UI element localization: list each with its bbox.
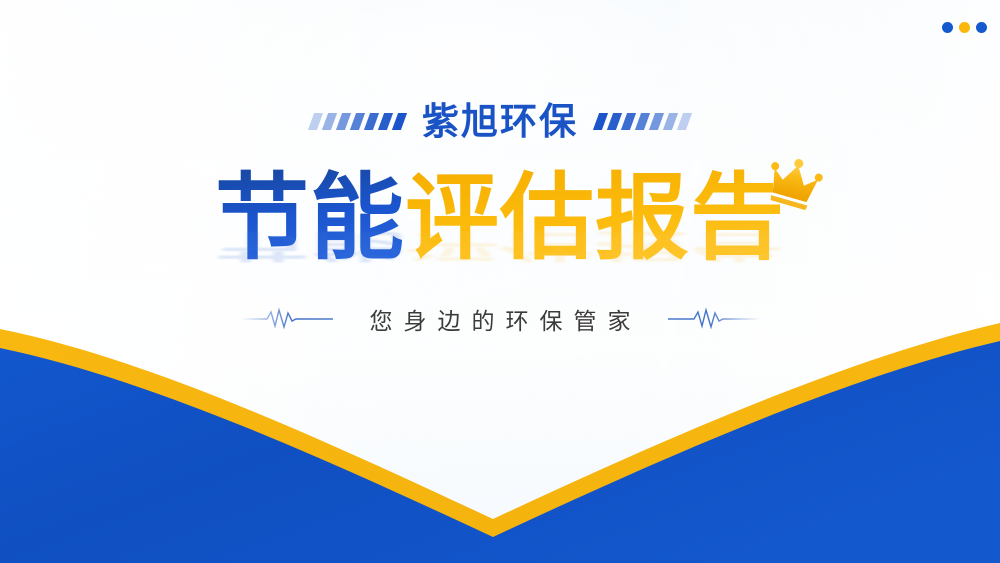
main-title-gold-segment: 评估报告 [405, 165, 785, 270]
cover-slide: 紫旭环保 节能评估报告 节能评估报告 [0, 0, 1000, 563]
main-title-block: 节能评估报告 节能评估报告 [0, 168, 1000, 268]
brand-name: 紫旭环保 [422, 103, 578, 140]
dash-decoration-right-icon [596, 113, 689, 131]
dot-blue-2-icon [976, 22, 987, 33]
main-title-blue-segment: 节能 [215, 165, 405, 270]
dot-gold-icon [959, 22, 970, 33]
bottom-wave-decoration [0, 303, 1000, 563]
brand-row: 紫旭环保 [0, 103, 1000, 140]
main-title: 节能评估报告 [215, 168, 785, 268]
dash-decoration-left-icon [311, 113, 404, 131]
corner-dots-group [942, 22, 987, 33]
dot-blue-1-icon [942, 22, 953, 33]
